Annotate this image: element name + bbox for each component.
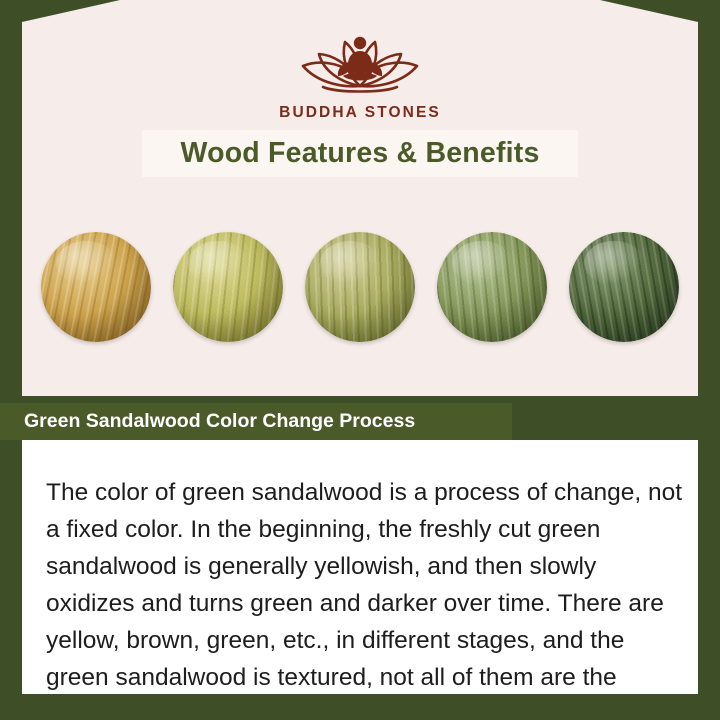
title-band: Wood Features & Benefits <box>142 130 578 177</box>
infographic-page: BUDDHA STONES Wood Features & Benefits <box>0 0 720 720</box>
brand-logo: BUDDHA STONES <box>0 26 720 122</box>
bead-highlight <box>320 241 379 285</box>
bead-stage-4 <box>437 232 547 342</box>
frame-bottom-strip <box>0 694 720 720</box>
brand-name: BUDDHA STONES <box>0 104 720 122</box>
bead-stage-1 <box>41 232 151 342</box>
section-title: Green Sandalwood Color Change Process <box>0 410 415 433</box>
bead-stage-3 <box>305 232 415 342</box>
bead-stage-5 <box>569 232 679 342</box>
body-paragraph: The color of green sandalwood is a proce… <box>46 474 686 720</box>
bead-highlight <box>56 241 115 285</box>
bead-row <box>22 232 698 342</box>
bead-highlight <box>188 241 247 285</box>
bead-highlight <box>452 241 511 285</box>
bead-highlight <box>584 241 643 285</box>
buddha-lotus-icon <box>275 26 445 100</box>
section-ribbon: Green Sandalwood Color Change Process <box>0 403 512 440</box>
bead-stage-2 <box>173 232 283 342</box>
page-title: Wood Features & Benefits <box>181 137 540 170</box>
